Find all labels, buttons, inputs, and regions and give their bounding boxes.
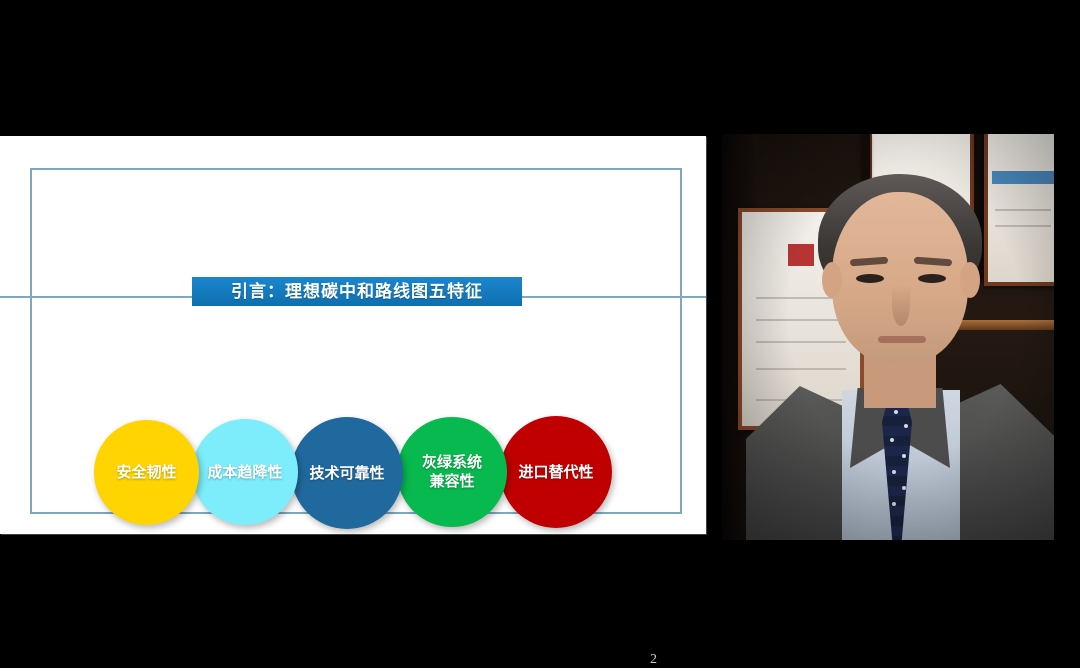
circle-cost-decline[interactable]: 成本趋降性 xyxy=(192,419,298,525)
circle-label: 进口替代性 xyxy=(514,463,597,482)
circle-safety-resilience[interactable]: 安全韧性 xyxy=(94,420,199,525)
circle-technical-reliability[interactable]: 技术可靠性 xyxy=(291,417,403,529)
video-vignette xyxy=(722,134,1054,540)
circle-label: 灰绿系统 兼容性 xyxy=(418,453,486,491)
circle-label: 安全韧性 xyxy=(112,463,180,482)
speaker-video-panel[interactable] xyxy=(722,134,1054,540)
screen-root: 引言：理想碳中和路线图五特征 安全韧性 成本趋降性 技术可靠性 灰绿系统 兼容性… xyxy=(0,0,1080,629)
slide-page-number: 2 xyxy=(650,652,657,668)
circle-grey-green-compatibility[interactable]: 灰绿系统 兼容性 xyxy=(397,417,507,527)
circle-import-substitution[interactable]: 进口替代性 xyxy=(500,416,612,528)
circle-label: 成本趋降性 xyxy=(203,463,286,482)
presentation-slide: 引言：理想碳中和路线图五特征 安全韧性 成本趋降性 技术可靠性 灰绿系统 兼容性… xyxy=(0,136,706,534)
circle-label: 技术可靠性 xyxy=(305,464,388,483)
circle-diagram: 安全韧性 成本趋降性 技术可靠性 灰绿系统 兼容性 进口替代性 xyxy=(0,136,706,534)
